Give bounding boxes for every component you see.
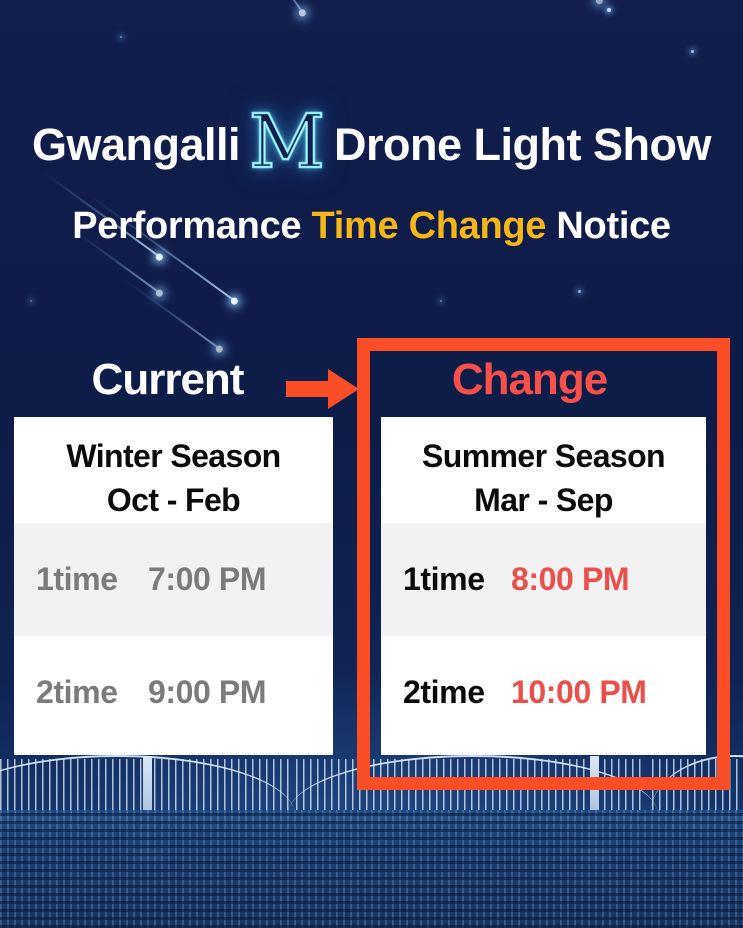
change-row-2-time: 10:00 PM (511, 674, 706, 711)
table-row: 1time 8:00 PM (381, 523, 706, 636)
current-row-1-label: 1time (14, 561, 148, 598)
star-dot (691, 50, 694, 53)
subtitle-highlight: Time Change (312, 205, 547, 247)
page-title: GwangalliMMDrone Light Show (0, 108, 743, 182)
water-ripple-overlay (0, 810, 743, 928)
table-row: 1time 7:00 PM (14, 523, 333, 636)
table-row: 2time 9:00 PM (14, 636, 333, 749)
change-season-months: Mar - Sep (381, 479, 706, 523)
star-dot (30, 300, 32, 302)
table-row: 2time 10:00 PM (381, 636, 706, 749)
title-text-after: Drone Light Show (334, 119, 711, 170)
subtitle-tail: Notice (556, 205, 670, 247)
logo-m-outline: M (244, 105, 330, 179)
current-season-months: Oct - Feb (14, 479, 333, 523)
current-table-header: Winter Season Oct - Feb (14, 417, 333, 523)
current-row-2-time: 9:00 PM (148, 674, 333, 711)
arrow-right-icon (286, 367, 360, 411)
star-dot (607, 8, 611, 12)
current-heading: Current (60, 355, 275, 405)
current-season-name: Winter Season (14, 435, 333, 479)
current-schedule-table: Winter Season Oct - Feb 1time 7:00 PM 2t… (14, 417, 333, 755)
change-row-1-label: 1time (381, 561, 511, 598)
current-row-2-label: 2time (14, 674, 148, 711)
star-dot (440, 300, 442, 302)
change-row-2-label: 2time (381, 674, 511, 711)
star-dot (578, 290, 581, 293)
poster-root: GwangalliMMDrone Light Show Performance … (0, 0, 743, 928)
change-table-header: Summer Season Mar - Sep (381, 417, 706, 523)
current-row-1-time: 7:00 PM (148, 561, 333, 598)
change-heading: Change (372, 355, 687, 405)
subtitle-lead: Performance (72, 205, 301, 247)
title-text-before: Gwangalli (32, 119, 240, 170)
change-row-1-time: 8:00 PM (511, 561, 706, 598)
change-season-name: Summer Season (381, 435, 706, 479)
star-dot (120, 36, 122, 38)
drone-m-logo-icon: MM (244, 105, 330, 179)
change-schedule-table: Summer Season Mar - Sep 1time 8:00 PM 2t… (381, 417, 706, 755)
page-subtitle: Performance Time Change Notice (0, 205, 743, 248)
